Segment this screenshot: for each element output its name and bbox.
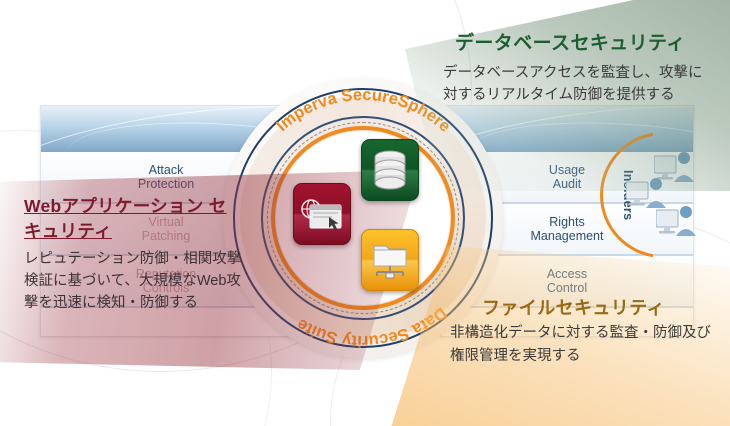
capability-line2: Audit <box>553 177 582 191</box>
web-application-security-body: レピュテーション防御・相関攻撃検証に基づいて、大規模なWeb攻撃を迅速に検知・防… <box>24 248 254 314</box>
web-application-icon <box>293 183 351 245</box>
diagram-canvas: Attack Protection Virtual Patching Reput… <box>0 0 730 426</box>
arc-top-text: Imperva SecureSphere <box>273 86 454 136</box>
capability-line1: Access <box>547 267 587 281</box>
arc-bottom-text: Data Security Suite <box>294 304 450 351</box>
file-security-body: 非構造化データに対する監査・防御及び権限管理を実現する <box>450 322 712 368</box>
file-security-title: ファイルセキュリティ <box>482 294 730 320</box>
file-share-icon <box>361 229 419 291</box>
database-icon <box>361 139 419 201</box>
capability-line2: Management <box>531 229 604 243</box>
capability-line1: Usage <box>549 163 585 177</box>
ring-arc-labels: Imperva SecureSphere Data Security Suite <box>223 78 503 358</box>
security-suite-ring: Imperva SecureSphere Data Security Suite <box>223 78 503 358</box>
web-application-security-title: Webアプリケーション セキュリティ <box>24 194 239 244</box>
insiders-user-cluster <box>640 150 710 260</box>
user-at-computer-icon <box>656 204 700 240</box>
database-security-title: データベースセキュリティ <box>455 28 715 55</box>
capability-line2: Protection <box>138 177 194 191</box>
capability-line1: Attack <box>149 163 184 177</box>
capability-line1: Rights <box>549 215 584 229</box>
database-security-body: データベースアクセスを監査し、攻撃に対するリアルタイム防御を提供する <box>443 62 705 106</box>
capability-line2: Control <box>547 281 587 295</box>
